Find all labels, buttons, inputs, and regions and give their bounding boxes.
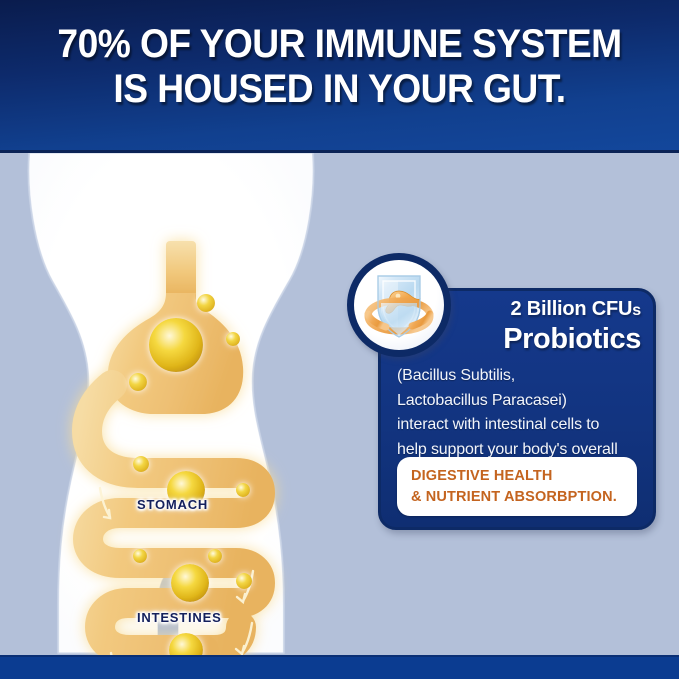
probiotics-badge <box>347 253 451 357</box>
cfu-amount-text: 2 Billion CFU <box>510 298 632 320</box>
page-title: 70% OF YOUR IMMUNE SYSTEM IS HOUSED IN Y… <box>24 22 655 112</box>
badge-inner-circle <box>354 260 444 350</box>
highlight-text: DIGESTIVE HEALTH & NUTRIENT ABSORBPTION. <box>411 466 631 508</box>
card-description: (Bacillus Subtilis, Lactobacillus Paraca… <box>397 364 641 462</box>
stomach-label: STOMACH <box>137 497 208 512</box>
bubble-small-6 <box>133 549 147 563</box>
cfu-amount: 2 Billion CFUs <box>461 297 641 323</box>
bubble-small-7 <box>208 549 222 563</box>
card-heading-group: 2 Billion CFUs Probiotics <box>461 297 641 356</box>
bubble-gut-large-2 <box>171 564 209 602</box>
bubble-small-8 <box>236 573 252 589</box>
card-title: Probiotics <box>461 323 641 356</box>
shield-stomach-icon <box>354 260 444 350</box>
bubble-small-1 <box>197 294 215 312</box>
poster-canvas: STOMACH INTESTINES 70% OF YOUR IMMUNE SY… <box>0 0 679 679</box>
highlight-box: DIGESTIVE HEALTH & NUTRIENT ABSORBPTION. <box>397 457 637 516</box>
bubble-small-2 <box>226 332 240 346</box>
header-banner: 70% OF YOUR IMMUNE SYSTEM IS HOUSED IN Y… <box>0 0 679 153</box>
bubble-stomach-large <box>149 318 203 372</box>
bubble-small-3 <box>129 373 147 391</box>
bubble-small-4 <box>133 456 149 472</box>
cfu-amount-suffix: s <box>632 302 641 319</box>
bubble-small-5 <box>236 483 250 497</box>
intestines-label: INTESTINES <box>137 610 222 625</box>
footer-bar <box>0 655 679 679</box>
